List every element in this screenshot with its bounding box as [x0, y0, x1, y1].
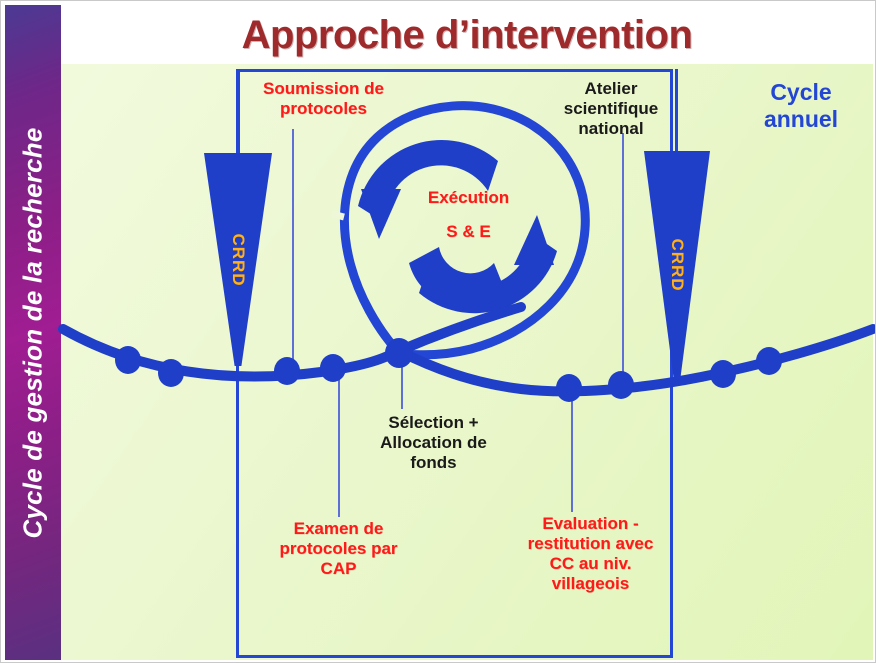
label-evaluation-restitution: Evaluation - restitution avec CC au niv.…	[493, 514, 688, 594]
leader-line-atelier	[622, 133, 624, 379]
label-execution-se: Exécution S & E	[396, 181, 541, 249]
crrd-right-label: CRRD	[667, 238, 687, 291]
leader-line-soumission	[292, 129, 294, 369]
label-cycle-annuel: Cycle annuel	[731, 79, 871, 133]
sidebar-title: Cycle de gestion de la recherche	[18, 127, 49, 538]
crrd-left-label: CRRD	[228, 233, 248, 286]
label-examen-protocoles: Examen de protocoles par CAP	[241, 519, 436, 579]
page-title: Approche d’intervention	[61, 9, 873, 61]
leader-line-selection	[401, 351, 403, 409]
label-soumission-protocoles: Soumission de protocoles	[241, 79, 406, 119]
leader-line-evaluation	[571, 384, 573, 512]
crrd-funnel-right: CRRD	[644, 151, 710, 379]
slide-root: Cycle de gestion de la recherche Approch…	[0, 0, 876, 663]
label-atelier-scientifique: Atelier scientifique national	[541, 79, 681, 139]
crrd-left-stem	[237, 69, 240, 155]
label-selection-allocation: Sélection + Allocation de fonds	[346, 413, 521, 473]
leader-line-examen	[338, 369, 340, 517]
crrd-funnel-left: CRRD	[204, 153, 272, 366]
sidebar-banner: Cycle de gestion de la recherche	[5, 5, 61, 660]
